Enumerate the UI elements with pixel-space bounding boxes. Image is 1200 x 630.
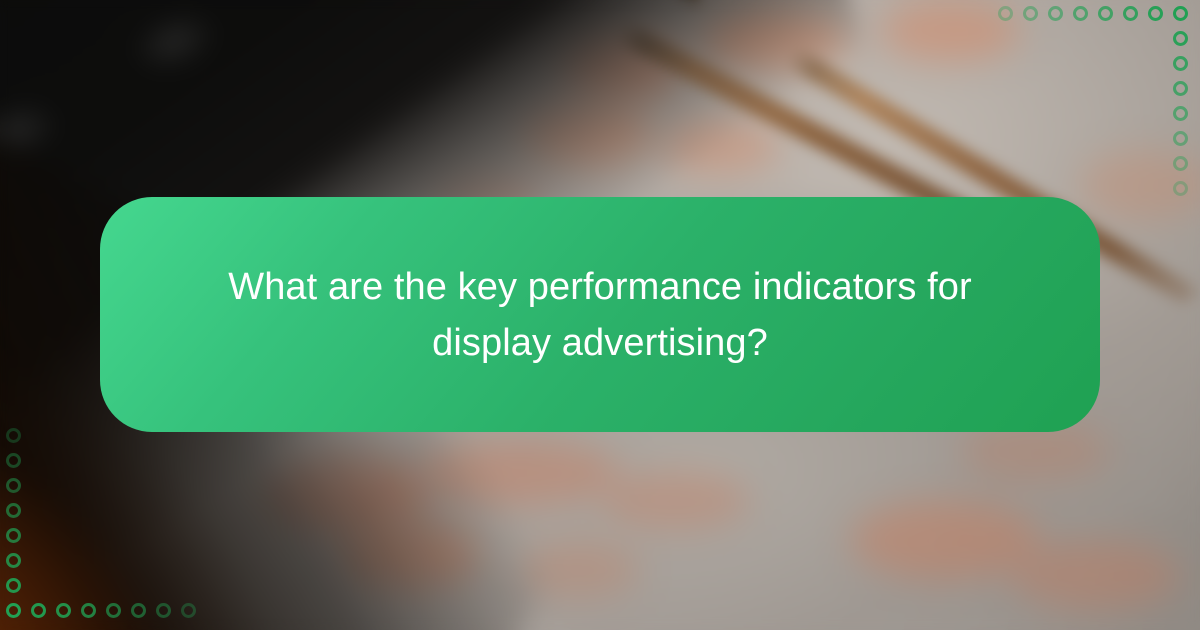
dot-circle bbox=[1173, 106, 1188, 121]
dot-circle bbox=[6, 428, 21, 443]
dot-circle bbox=[1023, 6, 1038, 21]
dot-circle bbox=[156, 603, 171, 618]
dot-circle bbox=[31, 603, 46, 618]
dot-circle bbox=[1173, 131, 1188, 146]
dot-circle bbox=[6, 553, 21, 568]
dot-circle bbox=[1173, 56, 1188, 71]
screenshot-canvas: What are the key performance indicators … bbox=[0, 0, 1200, 630]
dot-circle bbox=[998, 6, 1013, 21]
dot-circle bbox=[6, 528, 21, 543]
dot-circle bbox=[6, 503, 21, 518]
dot-circle bbox=[1173, 81, 1188, 96]
dot-pattern-bottom-left bbox=[6, 428, 202, 624]
dot-circle bbox=[1148, 6, 1163, 21]
dot-circle bbox=[106, 603, 121, 618]
dot-circle bbox=[1073, 6, 1088, 21]
question-text: What are the key performance indicators … bbox=[200, 259, 1000, 371]
dot-circle bbox=[6, 453, 21, 468]
dot-circle bbox=[1173, 31, 1188, 46]
dot-circle bbox=[1173, 181, 1188, 196]
dot-circle bbox=[1048, 6, 1063, 21]
dot-circle bbox=[6, 478, 21, 493]
dot-circle bbox=[6, 578, 21, 593]
dot-circle bbox=[1173, 156, 1188, 171]
dot-circle bbox=[56, 603, 71, 618]
dot-circle bbox=[1123, 6, 1138, 21]
dot-circle bbox=[1098, 6, 1113, 21]
dot-circle bbox=[81, 603, 96, 618]
question-card: What are the key performance indicators … bbox=[100, 197, 1100, 432]
dot-circle bbox=[1173, 6, 1188, 21]
dot-circle bbox=[131, 603, 146, 618]
dot-circle bbox=[6, 603, 21, 618]
dot-circle bbox=[181, 603, 196, 618]
dot-pattern-top-right bbox=[998, 6, 1194, 202]
